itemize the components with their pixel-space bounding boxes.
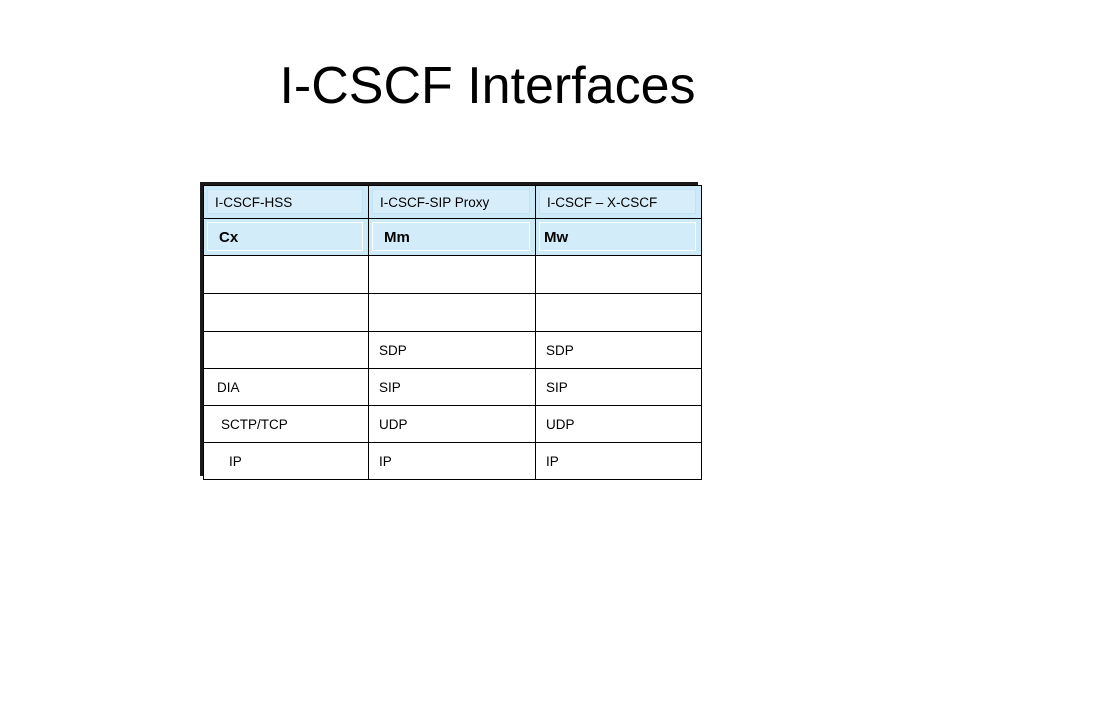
- stack-layer-label: SDP: [536, 343, 701, 358]
- stack-layer-label: IP: [369, 454, 535, 469]
- table-row: [204, 256, 702, 294]
- stack-cell: [369, 256, 536, 294]
- stack-layer-label: IP: [536, 454, 701, 469]
- table-row-headers: I-CSCF-HSS I-CSCF-SIP Proxy I-CSCF – X-C…: [204, 186, 702, 219]
- stack-layer-label: UDP: [536, 417, 701, 432]
- stack-cell: SIP: [369, 369, 536, 406]
- interface-name-label: Cx: [204, 229, 368, 246]
- stack-cell: [536, 294, 702, 332]
- stack-cell: UDP: [536, 406, 702, 443]
- interface-name-label: Mw: [536, 229, 701, 246]
- interface-name-label: Mm: [369, 229, 535, 246]
- stack-cell: SCTP/TCP: [204, 406, 369, 443]
- stack-cell: [536, 256, 702, 294]
- column-header-label: I-CSCF – X-CSCF: [536, 195, 701, 210]
- stack-layer-label: IP: [204, 454, 368, 469]
- column-header-label: I-CSCF-HSS: [204, 195, 368, 210]
- stack-layer-label: SIP: [369, 380, 535, 395]
- stack-cell: DIA: [204, 369, 369, 406]
- column-header-label: I-CSCF-SIP Proxy: [369, 195, 535, 210]
- stack-layer-label: DIA: [204, 380, 368, 395]
- interface-cell-mw: Mw: [536, 219, 702, 256]
- stack-cell: [204, 332, 369, 369]
- stack-cell: IP: [536, 443, 702, 480]
- header-cell-x-cscf: I-CSCF – X-CSCF: [536, 186, 702, 219]
- table-row-interface-names: Cx Mm Mw: [204, 219, 702, 256]
- stack-cell: IP: [369, 443, 536, 480]
- interface-cell-cx: Cx: [204, 219, 369, 256]
- stack-cell: UDP: [369, 406, 536, 443]
- table-row: IP IP IP: [204, 443, 702, 480]
- stack-cell: IP: [204, 443, 369, 480]
- table-row: DIA SIP SIP: [204, 369, 702, 406]
- stack-layer-label: SIP: [536, 380, 701, 395]
- stack-layer-label: SCTP/TCP: [204, 417, 368, 432]
- stack-cell: SIP: [536, 369, 702, 406]
- header-cell-sip-proxy: I-CSCF-SIP Proxy: [369, 186, 536, 219]
- table-row: SDP SDP: [204, 332, 702, 369]
- stack-cell: SDP: [536, 332, 702, 369]
- stack-cell: SDP: [369, 332, 536, 369]
- table-row: [204, 294, 702, 332]
- stack-layer-label: UDP: [369, 417, 535, 432]
- stack-cell: [204, 256, 369, 294]
- page-title: I-CSCF Interfaces: [0, 58, 975, 115]
- stack-cell: [204, 294, 369, 332]
- stack-cell: [369, 294, 536, 332]
- table-row: SCTP/TCP UDP UDP: [204, 406, 702, 443]
- interface-cell-mm: Mm: [369, 219, 536, 256]
- header-cell-hss: I-CSCF-HSS: [204, 186, 369, 219]
- protocol-stack-table: I-CSCF-HSS I-CSCF-SIP Proxy I-CSCF – X-C…: [200, 182, 698, 476]
- stack-layer-label: SDP: [369, 343, 535, 358]
